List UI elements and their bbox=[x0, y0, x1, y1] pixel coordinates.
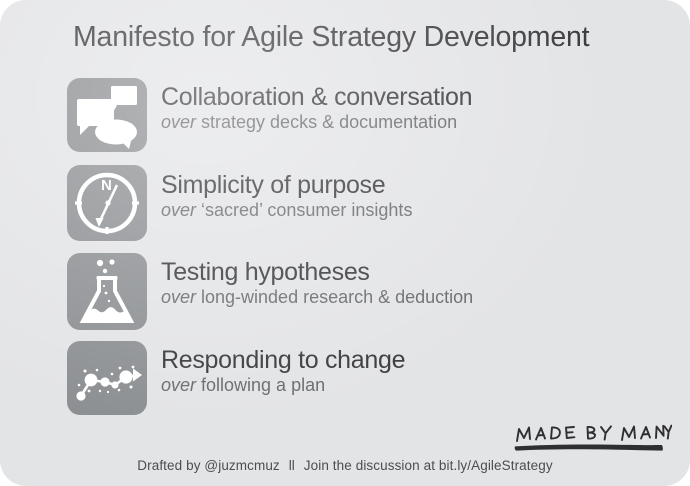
over-word: over bbox=[161, 287, 196, 307]
item-text-block: Collaboration & conversation over strate… bbox=[161, 78, 472, 132]
manifesto-item-testing: Testing hypotheses over long-winded rese… bbox=[67, 253, 473, 330]
compass-icon: N bbox=[67, 165, 147, 241]
flask-icon bbox=[67, 253, 147, 330]
over-rest: ‘sacred’ consumer insights bbox=[196, 200, 412, 220]
over-word: over bbox=[161, 375, 196, 395]
item-subtext: over following a plan bbox=[161, 375, 405, 395]
over-rest: strategy decks & documentation bbox=[196, 112, 457, 132]
manifesto-item-collaboration: Collaboration & conversation over strate… bbox=[67, 78, 472, 152]
item-subtext: over strategy decks & documentation bbox=[161, 112, 472, 132]
item-headline: Responding to change bbox=[161, 347, 405, 373]
over-rest: long-winded research & deduction bbox=[196, 287, 473, 307]
speech-bubbles-icon bbox=[67, 78, 147, 152]
item-headline: Testing hypotheses bbox=[161, 259, 473, 285]
footer: Drafted by @juzmcmuzllJoin the discussio… bbox=[0, 458, 690, 473]
item-text-block: Simplicity of purpose over ‘sacred’ cons… bbox=[161, 165, 412, 220]
footer-join-link[interactable]: Join the discussion at bit.ly/AgileStrat… bbox=[304, 458, 553, 473]
item-subtext: over ‘sacred’ consumer insights bbox=[161, 200, 412, 220]
footer-credit: Drafted by @juzmcmuz bbox=[137, 458, 280, 473]
item-text-block: Testing hypotheses over long-winded rese… bbox=[161, 253, 473, 307]
manifesto-item-simplicity: N Simplicity of purpose over ‘sacred’ co… bbox=[67, 165, 412, 241]
over-rest: following a plan bbox=[196, 375, 325, 395]
network-arrow-icon bbox=[67, 341, 147, 415]
manifesto-item-responding: Responding to change over following a pl… bbox=[67, 341, 405, 415]
svg-text:N: N bbox=[101, 177, 112, 194]
item-subtext: over long-winded research & deduction bbox=[161, 287, 473, 307]
footer-separator: ll bbox=[280, 458, 304, 473]
manifesto-slide: Manifesto for Agile Strategy Development… bbox=[0, 0, 690, 486]
item-headline: Simplicity of purpose bbox=[161, 172, 412, 198]
over-word: over bbox=[161, 200, 196, 220]
over-word: over bbox=[161, 112, 196, 132]
item-text-block: Responding to change over following a pl… bbox=[161, 341, 405, 395]
item-headline: Collaboration & conversation bbox=[161, 84, 472, 110]
page-title: Manifesto for Agile Strategy Development bbox=[73, 21, 589, 54]
made-by-many-logo: MADE BY MANY bbox=[512, 424, 672, 458]
